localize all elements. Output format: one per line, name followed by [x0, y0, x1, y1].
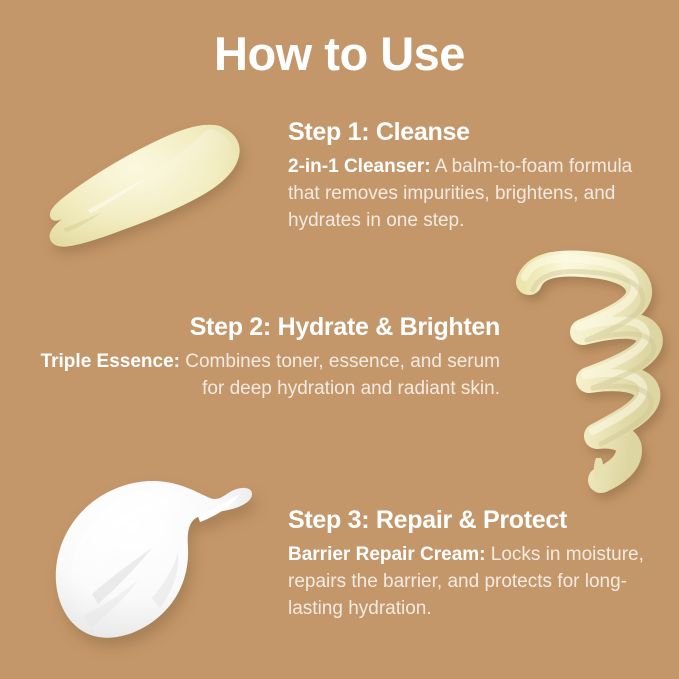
step-1-text-block: Step 1: Cleanse 2-in-1 Cleanser: A balm-… [288, 118, 656, 235]
step-2-body: Triple Essence: Combines toner, essence,… [30, 349, 500, 403]
step-1-body: 2-in-1 Cleanser: A balm-to-foam formula … [288, 154, 656, 235]
page-title: How to Use [0, 28, 679, 80]
step-3-lead: Barrier Repair Cream: [288, 544, 485, 565]
cream-swatch-image [48, 466, 280, 652]
step-2-lead: Triple Essence: [41, 351, 180, 372]
essence-squiggle-image [497, 252, 675, 480]
step-2-heading: Step 2: Hydrate & Brighten [30, 313, 500, 342]
balm-swatch-image [28, 112, 254, 264]
step-2-description: Combines toner, essence, and serum for d… [180, 351, 500, 399]
step-3-heading: Step 3: Repair & Protect [288, 506, 656, 535]
step-3-body: Barrier Repair Cream: Locks in moisture,… [288, 542, 656, 623]
step-1-heading: Step 1: Cleanse [288, 118, 656, 147]
step-3-text-block: Step 3: Repair & Protect Barrier Repair … [288, 506, 656, 623]
how-to-use-infographic: How to Use [0, 0, 679, 679]
step-2-text-block: Step 2: Hydrate & Brighten Triple Essenc… [30, 313, 500, 403]
step-1-lead: 2-in-1 Cleanser: [288, 156, 431, 177]
